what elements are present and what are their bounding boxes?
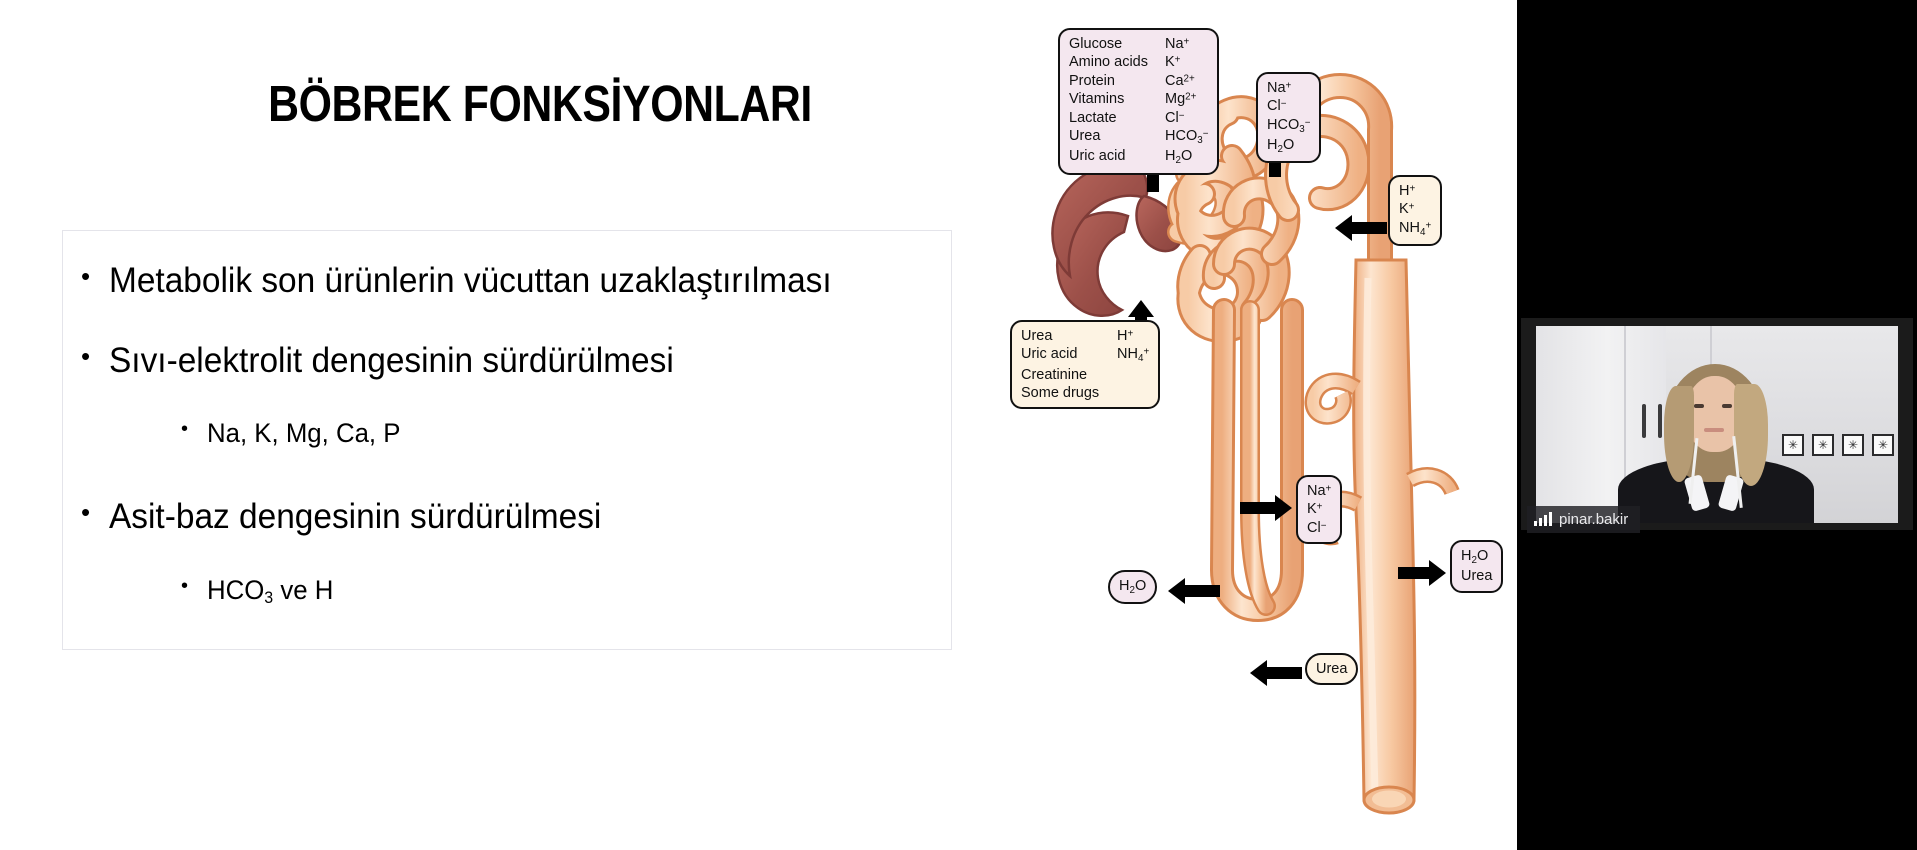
loop-na-k-cl-box: Na+ K+ Cl− — [1296, 475, 1342, 544]
video-feed — [1536, 326, 1898, 523]
participant-video-tile[interactable] — [1521, 318, 1913, 530]
reabsorption-sub2-4: Cl− — [1165, 110, 1184, 126]
participant-name-label: pinar.bakir — [1559, 511, 1628, 528]
secretion-h-k-nh4-box: H+ K+ NH4+ — [1388, 175, 1442, 246]
water-out-box: H2O — [1108, 570, 1157, 604]
reabsorption-sub1-4: Lactate — [1069, 109, 1165, 127]
loop-ion-0: Na+ — [1307, 482, 1331, 500]
distal-reabsorption-box: Na+ Cl− HCO3− H2O — [1256, 72, 1321, 163]
cabinet-handle — [1642, 404, 1646, 438]
bullet-item-1: •Metabolik son ürünlerin vücuttan uzakla… — [81, 263, 866, 300]
water-out-label: H2O — [1119, 577, 1146, 597]
bullet-marker: • — [181, 419, 207, 440]
water-urea-label-1: Urea — [1461, 567, 1492, 585]
bullet-marker: • — [81, 263, 109, 290]
secretion-ion-0: H+ — [1399, 182, 1431, 200]
proximal-sub1-2: Creatinine — [1021, 366, 1117, 384]
person-eye — [1694, 404, 1704, 408]
bullet-item-3-sub-1: •HCO3 ve H — [181, 576, 339, 607]
reabsorption-sub1-2: Protein — [1069, 72, 1165, 90]
distal-ion-2: HCO3− — [1267, 116, 1310, 136]
reabsorption-sub1-0: Glucose — [1069, 35, 1165, 53]
distal-ion-0: Na+ — [1267, 79, 1310, 97]
proximal-sub2-0: H+ — [1117, 328, 1133, 344]
reabsorption-sub2-5: HCO3− — [1165, 128, 1208, 144]
water-urea-label-0: H2O — [1461, 547, 1492, 567]
person-hair-left — [1664, 386, 1694, 482]
loop-ion-1: K+ — [1307, 500, 1331, 518]
reabsorption-sub1-1: Amino acids — [1069, 53, 1165, 71]
loop-ion-2: Cl− — [1307, 519, 1331, 537]
person-hair-right — [1734, 384, 1768, 486]
reabsorption-sub1-5: Urea — [1069, 127, 1165, 145]
nephron-transport-diagram: GlucoseNa+ Amino acidsK+ ProteinCa2+ Vit… — [1000, 10, 1500, 840]
reabsorption-sub2-6: H2O — [1165, 148, 1192, 164]
proximal-sub1-3: Some drugs — [1021, 384, 1117, 402]
loop-of-henle — [1222, 310, 1292, 610]
shared-slide: BÖBREK FONKSİYONLARI •Metabolik son ürün… — [0, 0, 1517, 850]
wall-art-frame — [1812, 434, 1834, 456]
urea-recycling-box: Urea — [1305, 653, 1358, 685]
page-title: BÖBREK FONKSİYONLARI — [187, 74, 893, 133]
wall-art-frame — [1842, 434, 1864, 456]
bullet-item-3-label: Asit-baz dengesinin sürdürülmesi — [109, 499, 601, 536]
secretion-ion-2: NH4+ — [1399, 219, 1431, 239]
bullet-content-box: •Metabolik son ürünlerin vücuttan uzakla… — [62, 230, 952, 650]
reabsorption-sub2-0: Na+ — [1165, 36, 1189, 52]
reabsorption-sub2-1: K+ — [1165, 54, 1180, 70]
bullet-marker: • — [81, 499, 109, 526]
arrow-left-urea-recycling — [1250, 660, 1302, 686]
proximal-sub1-0: Urea — [1021, 327, 1117, 345]
arrow-left-secretion-h-k-nh4 — [1335, 215, 1387, 241]
bullet-marker: • — [181, 576, 207, 597]
bullet-item-1-label: Metabolik son ürünlerin vücuttan uzaklaş… — [109, 263, 832, 300]
proximal-secretion-box: UreaH+ Uric acidNH4+ Creatinine Some dru… — [1010, 320, 1160, 409]
secretion-ion-1: K+ — [1399, 200, 1431, 218]
proximal-sub2-1: NH4+ — [1117, 346, 1149, 362]
reabsorption-sub2-2: Ca2+ — [1165, 73, 1195, 89]
wall-art-frame — [1782, 434, 1804, 456]
bullet-item-2: •Sıvı-elektrolit dengesinin sürdürülmesi — [81, 343, 700, 380]
bullet-item-2-label: Sıvı-elektrolit dengesinin sürdürülmesi — [109, 343, 674, 380]
wall-art-frame — [1872, 434, 1894, 456]
arrow-right-na-k-cl — [1240, 495, 1292, 521]
water-urea-box: H2O Urea — [1450, 540, 1503, 593]
urea-recycling-label: Urea — [1316, 660, 1347, 678]
reabsorption-sub2-3: Mg2+ — [1165, 91, 1196, 107]
cabinet-handle — [1658, 404, 1662, 438]
app-root: BÖBREK FONKSİYONLARI •Metabolik son ürün… — [0, 0, 1917, 850]
reabsorption-sub1-3: Vitamins — [1069, 90, 1165, 108]
signal-bars-icon — [1534, 513, 1552, 526]
arrow-right-water-urea — [1398, 560, 1446, 586]
distal-ion-3: H2O — [1267, 136, 1310, 156]
reabsorption-sub1-6: Uric acid — [1069, 147, 1165, 165]
proximal-sub1-1: Uric acid — [1021, 345, 1117, 363]
bullet-item-2-sub-1: •Na, K, Mg, Ca, P — [181, 419, 410, 447]
person-eye — [1722, 404, 1732, 408]
participant-name-badge: pinar.bakir — [1527, 506, 1640, 533]
bullet-item-3: •Asit-baz dengesinin sürdürülmesi — [81, 499, 625, 536]
reabsorption-box: GlucoseNa+ Amino acidsK+ ProteinCa2+ Vit… — [1058, 28, 1219, 175]
bullet-marker: • — [81, 343, 109, 370]
arrow-left-water-out — [1168, 578, 1220, 604]
distal-ion-1: Cl− — [1267, 97, 1310, 115]
bullet-item-2-sub-1-label: Na, K, Mg, Ca, P — [207, 419, 400, 447]
bullet-item-3-sub-1-label: HCO3 ve H — [207, 576, 333, 607]
person-mouth — [1704, 428, 1724, 432]
